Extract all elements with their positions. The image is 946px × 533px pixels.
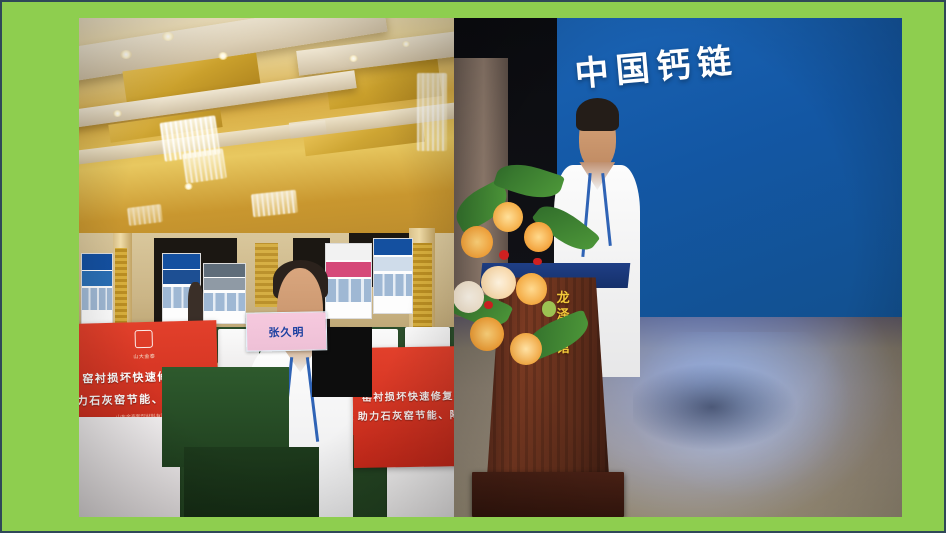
crystal-chandelier — [250, 190, 297, 218]
ceiling-downlight — [162, 32, 174, 41]
ceiling — [79, 18, 454, 248]
gold-column — [413, 243, 432, 333]
photo-pair-container: 山大金泰 窑衬损坏快速修复技术 助力石灰窑节能、降耗、提效 山东金泰新型材料有限… — [79, 18, 902, 517]
banner-line-2: 助力石灰窑节能、降耗、提效 — [357, 405, 454, 423]
orange-flower — [524, 222, 553, 252]
floral-arrangement — [458, 178, 601, 378]
crystal-chandelier — [127, 204, 163, 226]
ceiling-downlight — [113, 110, 122, 117]
white-lily — [481, 266, 515, 300]
speaker-hair — [576, 98, 619, 132]
ceiling-downlight — [349, 55, 358, 62]
table-shadow — [184, 447, 319, 517]
podium-base — [472, 472, 624, 517]
banner-brand: 山大金泰 — [133, 353, 155, 361]
company-logo-icon — [134, 330, 152, 348]
photo-banquet-hall: 山大金泰 窑衬损坏快速修复技术 助力石灰窑节能、降耗、提效 山东金泰新型材料有限… — [79, 18, 454, 517]
orange-flower — [470, 317, 504, 351]
orange-flower — [493, 202, 523, 232]
name-placard: 张久明 — [246, 312, 327, 353]
stage-scene: 中国钙链 — [454, 18, 902, 517]
red-berry — [499, 250, 509, 260]
exhibition-poster — [373, 238, 413, 315]
floor-shadow — [633, 347, 830, 467]
orange-flower — [516, 273, 548, 305]
banner-line-1: 窑衬损坏快速修复技术 — [361, 387, 454, 404]
name-placard-text: 张久明 — [268, 324, 304, 341]
crystal-chandelier — [417, 73, 447, 151]
presentation-slide: 山大金泰 窑衬损坏快速修复技术 助力石灰窑节能、降耗、提效 山东金泰新型材料有限… — [0, 0, 946, 533]
ceiling-downlight — [402, 41, 410, 47]
red-berry — [533, 258, 542, 266]
green-bud — [542, 301, 556, 317]
ceiling-downlight — [184, 183, 193, 190]
orange-flower — [510, 333, 542, 365]
exhibition-poster — [81, 253, 113, 330]
exhibition-poster — [203, 263, 246, 325]
crystal-chandelier — [182, 148, 227, 183]
gold-column — [115, 248, 128, 328]
banquet-hall-scene: 山大金泰 窑衬损坏快速修复技术 助力石灰窑节能、降耗、提效 山东金泰新型材料有限… — [79, 18, 454, 517]
orange-flower — [461, 226, 493, 258]
photo-stage-speaker: 中国钙链 — [454, 18, 902, 517]
projection-screen-text: 中国钙链 — [572, 19, 897, 96]
